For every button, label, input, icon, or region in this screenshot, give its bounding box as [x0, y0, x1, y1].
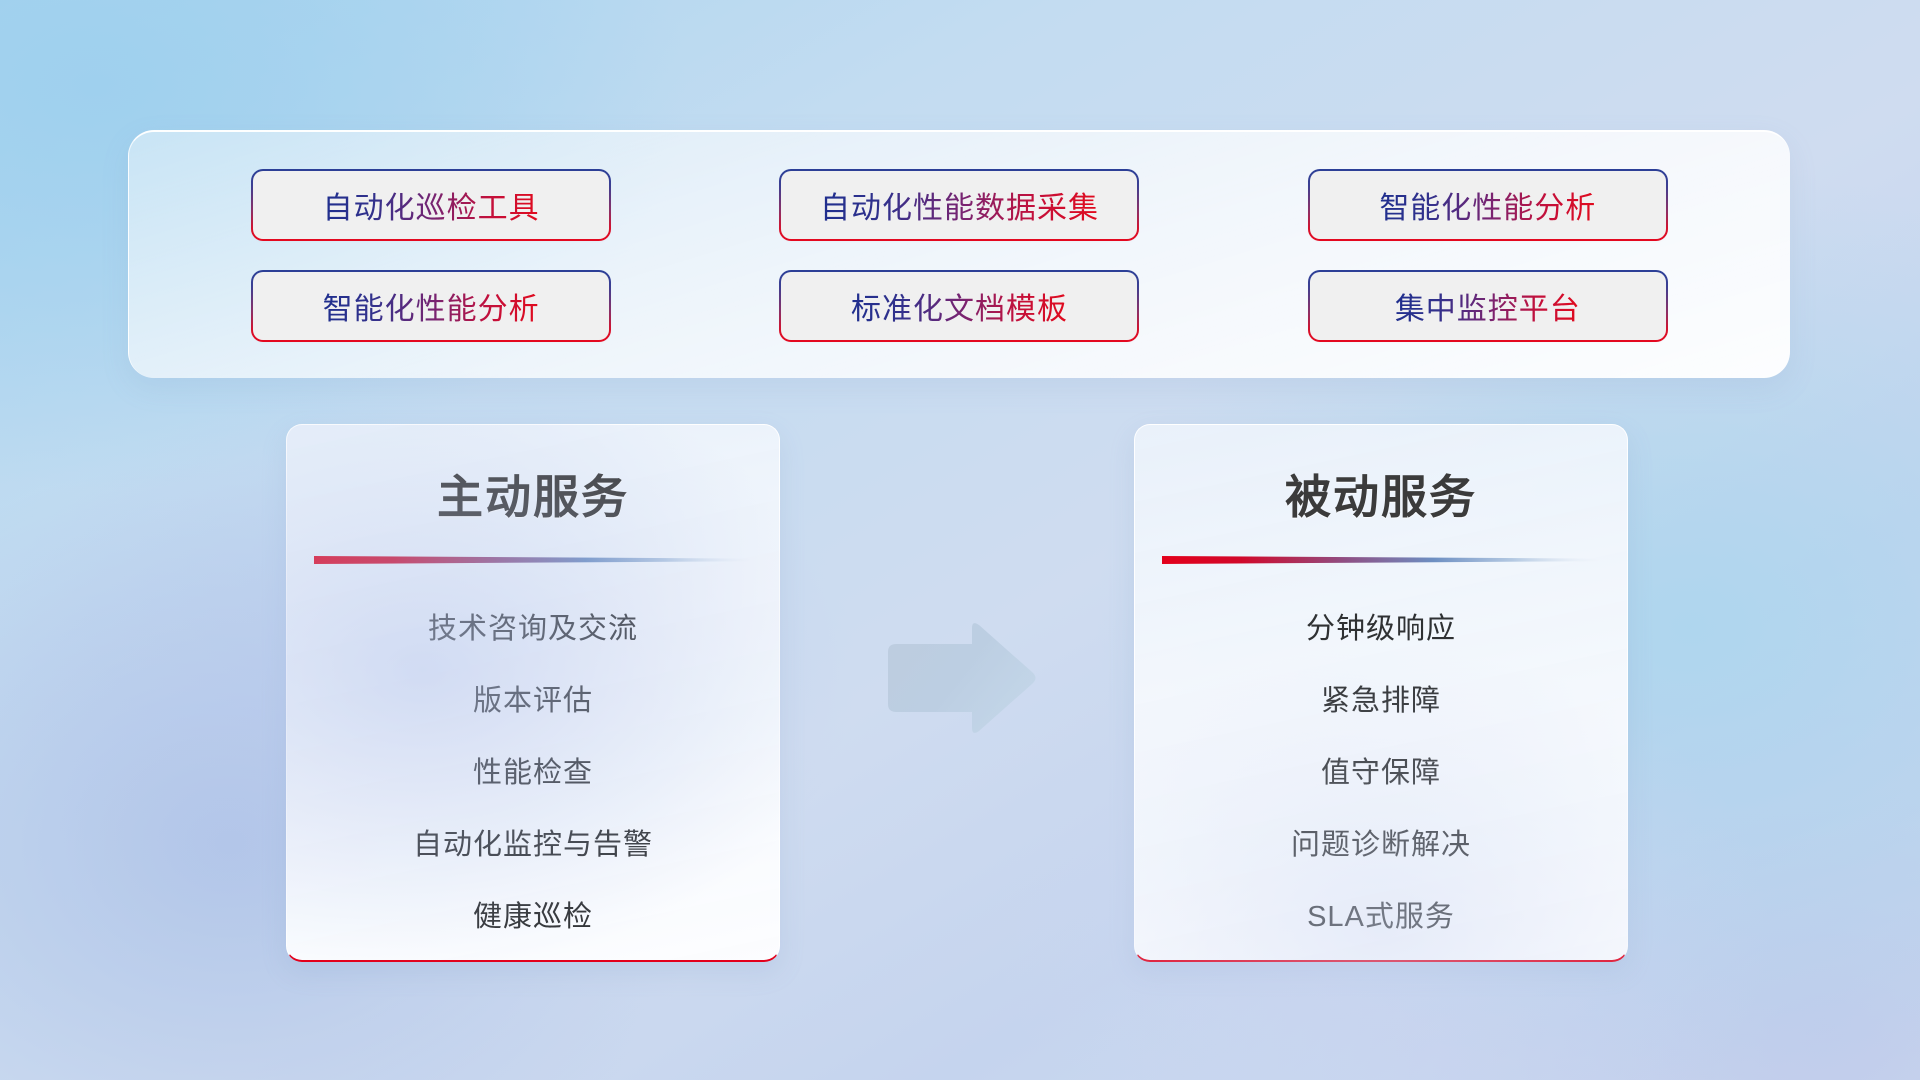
service-item: 问题诊断解决 — [1291, 809, 1471, 881]
gradient-divider-icon — [314, 553, 752, 567]
service-item: 分钟级响应 — [1306, 593, 1456, 665]
card-title: 主动服务 — [287, 461, 779, 527]
slide-canvas: 自动化巡检工具 自动化性能数据采集 智能化性能分析 智能化性能分析 标准化文档模… — [0, 0, 1920, 1080]
service-item: 技术咨询及交流 — [428, 593, 638, 665]
service-card-proactive: 主动服务 技术咨询及交流 版本评估 性能检查 — [286, 424, 780, 962]
capability-pill-label: 智能化性能分析 — [323, 284, 540, 328]
service-item: SLA式服务 — [1307, 881, 1455, 953]
service-item: 紧急排障 — [1321, 665, 1441, 737]
capability-pill[interactable]: 智能化性能分析 — [253, 272, 609, 340]
capabilities-panel: 自动化巡检工具 自动化性能数据采集 智能化性能分析 智能化性能分析 标准化文档模… — [128, 130, 1790, 378]
service-item: 健康巡检 — [473, 881, 593, 953]
service-card-reactive: 被动服务 分钟级响应 紧急排障 值守保障 — [1134, 424, 1628, 962]
gradient-divider-icon — [1162, 553, 1600, 567]
service-item-list: 分钟级响应 紧急排障 值守保障 问题诊断解决 SLA式服务 — [1135, 593, 1627, 953]
capability-pill-label: 自动化性能数据采集 — [820, 183, 1099, 227]
service-item: 性能检查 — [473, 737, 593, 809]
capability-pill-grid: 自动化巡检工具 自动化性能数据采集 智能化性能分析 智能化性能分析 标准化文档模… — [129, 132, 1790, 378]
capability-pill-label: 集中监控平台 — [1395, 284, 1581, 328]
service-item: 值守保障 — [1321, 737, 1441, 809]
capability-pill-label: 自动化巡检工具 — [323, 183, 540, 227]
service-item: 版本评估 — [473, 665, 593, 737]
capability-pill-label: 标准化文档模板 — [851, 284, 1068, 328]
capability-pill[interactable]: 标准化文档模板 — [781, 272, 1137, 340]
capability-pill[interactable]: 集中监控平台 — [1310, 272, 1666, 340]
capability-pill[interactable]: 智能化性能分析 — [1310, 171, 1666, 239]
arrow-right-icon — [880, 618, 1040, 738]
capability-pill[interactable]: 自动化性能数据采集 — [781, 171, 1137, 239]
service-item-list: 技术咨询及交流 版本评估 性能检查 自动化监控与告警 健康巡检 — [287, 593, 779, 953]
service-item: 自动化监控与告警 — [413, 809, 653, 881]
capability-pill[interactable]: 自动化巡检工具 — [253, 171, 609, 239]
capability-pill-label: 智能化性能分析 — [1379, 183, 1596, 227]
card-title: 被动服务 — [1135, 461, 1627, 527]
